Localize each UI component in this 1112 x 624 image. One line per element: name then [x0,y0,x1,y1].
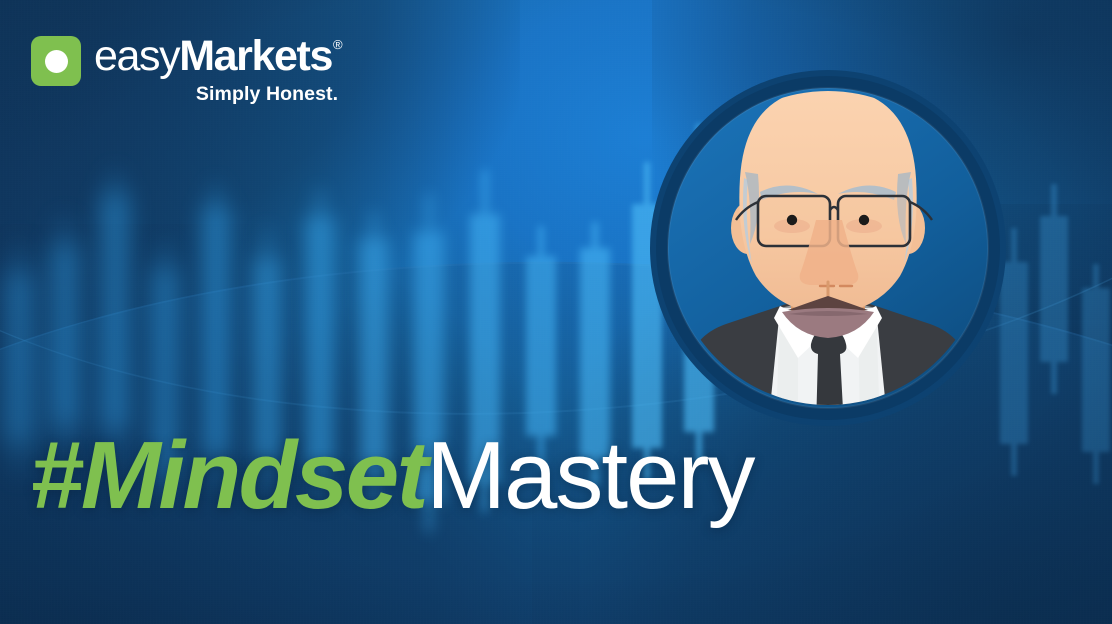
logo-tagline: Simply Honest. [196,85,338,105]
easymarkets-logo[interactable]: easyMarkets® Simply Honest. [31,36,341,104]
logo-word-markets: Markets [179,36,332,77]
pupil-left [787,215,797,225]
logo-word-easy: easy [94,36,179,77]
pupil-right [859,215,869,225]
promo-banner: easyMarkets® Simply Honest. [0,0,1112,624]
registered-trademark-icon: ® [333,38,341,51]
logo-text-block: easyMarkets® Simply Honest. [94,36,341,104]
logo-wordmark: easyMarkets® [94,36,341,77]
headline-hashtag-part: #Mindset [30,422,426,529]
logo-mark-icon [31,36,81,86]
avatar-illustration [648,68,1008,428]
headline-plain-part: Mastery [426,422,753,529]
page-title: #MindsetMastery [30,428,753,524]
logo-dot-icon [45,50,68,73]
avatar [648,68,1008,428]
